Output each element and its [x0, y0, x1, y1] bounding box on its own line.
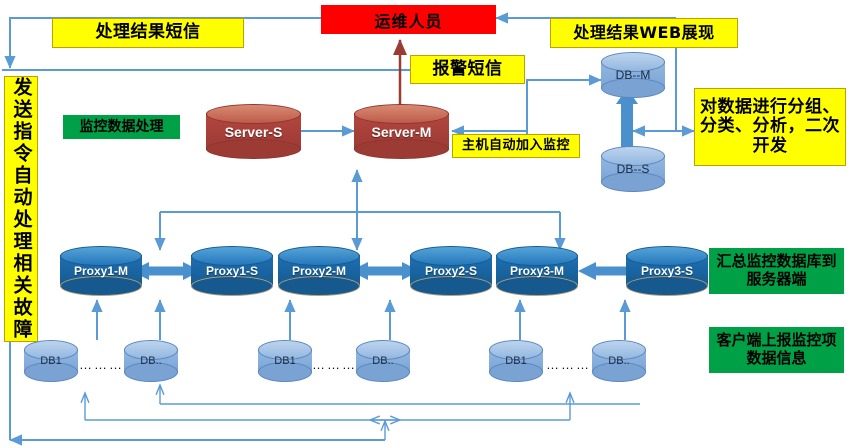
cylinder-bottom	[410, 276, 492, 296]
cylinder-top	[496, 246, 578, 266]
cylinder-top	[489, 340, 543, 360]
ellipsis-dots-1: …………	[79, 358, 125, 372]
cylinder-top	[410, 246, 492, 266]
cylinder-bottom	[24, 362, 78, 382]
callout-send-command[interactable]: 发送指令自动处理相关故障	[4, 76, 38, 342]
note-monitor-data-process[interactable]: 监控数据处理	[63, 115, 180, 139]
cylinder-top	[626, 246, 708, 266]
callout-sms-result[interactable]: 处理结果短信	[52, 18, 244, 48]
cylinder-top	[258, 340, 312, 360]
proxy-node-proxy3-m[interactable]: Proxy3-M	[496, 246, 578, 296]
agent-db-g2-dbn[interactable]: DB..	[356, 340, 410, 382]
agent-db-g3-db1[interactable]: DB1	[489, 340, 543, 382]
cylinder-top	[601, 52, 665, 72]
cylinder-bottom	[592, 362, 646, 382]
cylinder-bottom	[60, 276, 142, 296]
agent-db-g1-dbn[interactable]: DB..	[124, 340, 178, 382]
cylinder-bottom	[278, 276, 360, 296]
cylinder-top	[124, 340, 178, 360]
database-node-db-s[interactable]: DB--S	[601, 146, 665, 192]
cylinder-bottom	[191, 276, 273, 296]
proxy-node-proxy2-s[interactable]: Proxy2-S	[410, 246, 492, 296]
note-collect-db[interactable]: 汇总监控数据库到服务器端	[709, 248, 844, 294]
note-client-report[interactable]: 客户端上报监控项数据信息	[709, 327, 844, 373]
cylinder-bottom	[601, 172, 665, 192]
server-node-server-m[interactable]: Server-M	[354, 104, 449, 159]
cylinder-top	[24, 340, 78, 360]
cylinder-bottom	[356, 362, 410, 382]
agent-db-g1-db1[interactable]: DB1	[24, 340, 78, 382]
proxy-node-proxy3-s[interactable]: Proxy3-S	[626, 246, 708, 296]
cylinder-top	[206, 104, 301, 124]
ellipsis-dots-2: …………	[312, 358, 358, 372]
callout-alarm-sms[interactable]: 报警短信	[410, 55, 525, 84]
cylinder-bottom	[496, 276, 578, 296]
cylinder-bottom	[206, 139, 301, 159]
database-node-db-m[interactable]: DB--M	[601, 52, 665, 98]
callout-data-analyze[interactable]: 对数据进行分组、分类、分析，二次开发	[694, 88, 846, 166]
agent-db-g3-dbn[interactable]: DB..	[592, 340, 646, 382]
cylinder-top	[354, 104, 449, 124]
cylinder-top	[356, 340, 410, 360]
proxy-node-proxy1-m[interactable]: Proxy1-M	[60, 246, 142, 296]
cylinder-top	[278, 246, 360, 266]
agent-db-g2-db1[interactable]: DB1	[258, 340, 312, 382]
proxy-node-proxy1-s[interactable]: Proxy1-S	[191, 246, 273, 296]
cylinder-top	[592, 340, 646, 360]
cylinder-top	[601, 146, 665, 166]
operator-node[interactable]: 运维人员	[321, 5, 496, 34]
cylinder-bottom	[354, 139, 449, 159]
diagram-canvas: 运维人员 处理结果短信 处理结果WEB展现 报警短信 主机自动加入监控 对数据进…	[0, 0, 851, 448]
callout-auto-join[interactable]: 主机自动加入监控	[452, 134, 580, 158]
cylinder-bottom	[124, 362, 178, 382]
server-node-server-s[interactable]: Server-S	[206, 104, 301, 159]
cylinder-bottom	[601, 78, 665, 98]
cylinder-bottom	[626, 276, 708, 296]
cylinder-bottom	[258, 362, 312, 382]
cylinder-bottom	[489, 362, 543, 382]
cylinder-top	[191, 246, 273, 266]
ellipsis-dots-3: …………	[546, 358, 592, 372]
callout-web-result[interactable]: 处理结果WEB展现	[550, 18, 738, 48]
cylinder-top	[60, 246, 142, 266]
proxy-node-proxy2-m[interactable]: Proxy2-M	[278, 246, 360, 296]
